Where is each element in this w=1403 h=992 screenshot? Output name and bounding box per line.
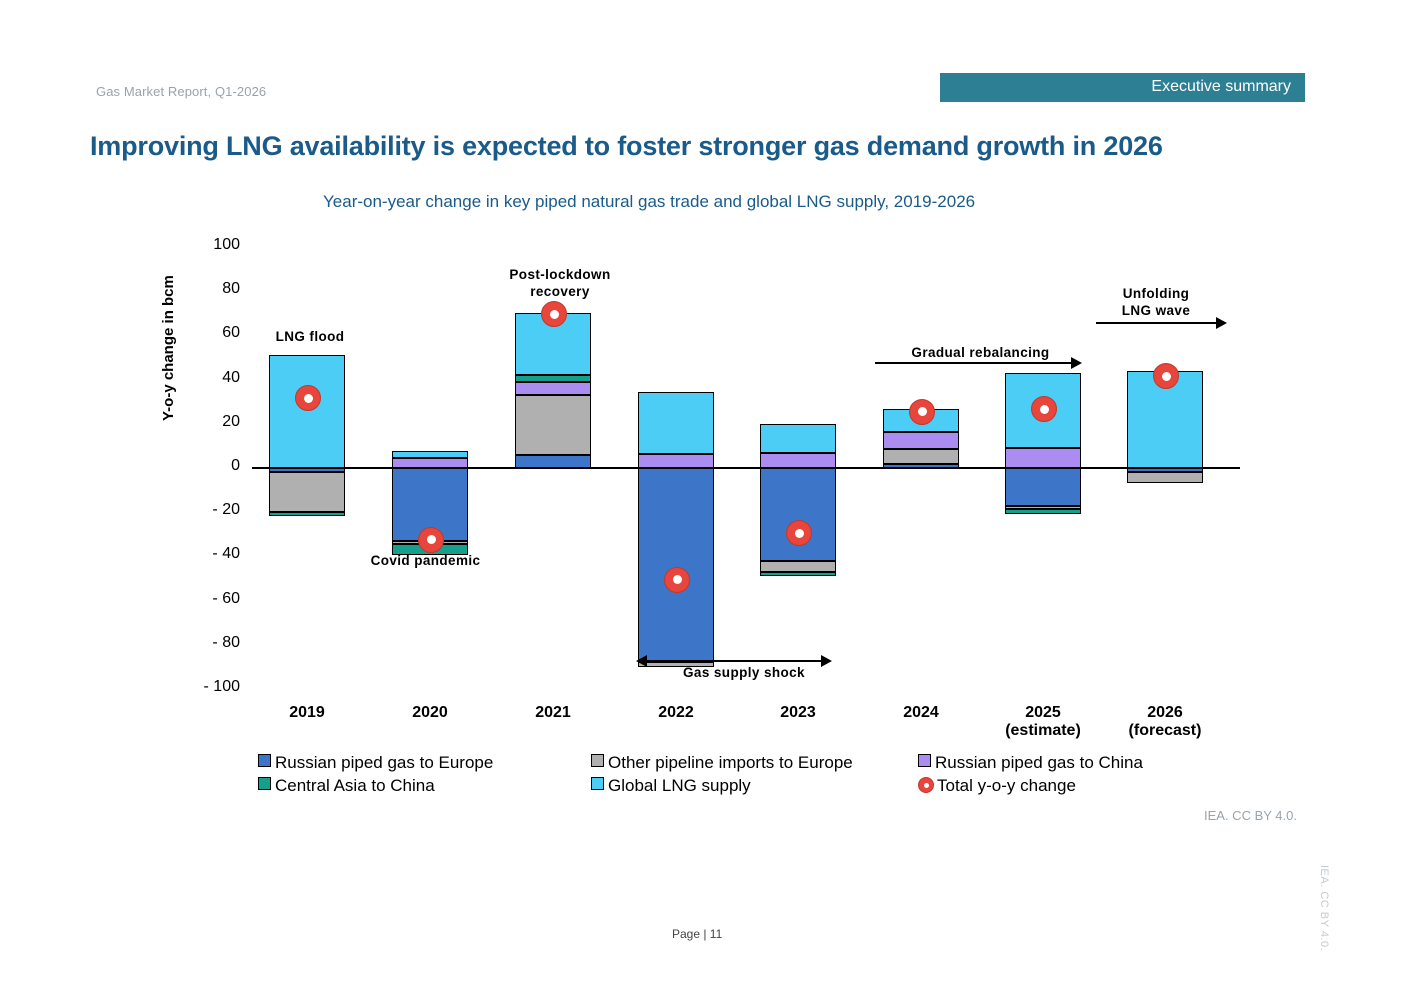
section-tab-label: Executive summary: [1151, 78, 1291, 96]
gas-supply-shock-arrow-right: [821, 655, 832, 667]
bar-segment: [269, 355, 345, 468]
x-label-year: 2022: [658, 704, 694, 721]
x-label-year: 2021: [535, 704, 571, 721]
legend-swatch-icon: [918, 754, 931, 767]
bar-segment: [515, 395, 591, 455]
legend-label: Total y-o-y change: [937, 776, 1076, 795]
page-title: Improving LNG availability is expected t…: [90, 131, 1163, 162]
report-label: Gas Market Report, Q1-2026: [96, 84, 266, 99]
legend-item-3[interactable]: Central Asia to China: [258, 776, 435, 796]
chart-subtitle: Year-on-year change in key piped natural…: [323, 192, 975, 212]
side-license-credit: IEA. CC BY 4.0.: [1318, 865, 1330, 951]
bar-segment: [1005, 468, 1081, 506]
total-change-marker: [1153, 363, 1179, 389]
marker-center-dot: [1162, 372, 1171, 381]
bar-segment: [392, 458, 468, 468]
annotation-post-lockdown-line2: recovery: [530, 284, 590, 299]
x-label-year: 2024: [903, 704, 939, 721]
bar-segment: [1005, 448, 1081, 468]
legend-item-1[interactable]: Other pipeline imports to Europe: [591, 753, 853, 773]
legend-label: Russian piped gas to China: [935, 753, 1143, 772]
legend-swatch-icon: [258, 777, 271, 790]
bar-segment: [1005, 509, 1081, 515]
page-number: Page | 11: [672, 927, 722, 941]
annotation-post-lockdown: Post-lockdown recovery: [490, 266, 630, 300]
total-change-marker: [909, 399, 935, 425]
annotation-lng-flood: LNG flood: [245, 328, 375, 345]
marker-center-dot: [550, 310, 559, 319]
bar-segment: [760, 572, 836, 576]
y-tick-9: - 80: [178, 634, 240, 652]
marker-center-dot: [918, 407, 927, 416]
annotation-gradual-rebalancing: Gradual rebalancing: [898, 344, 1063, 361]
legend-label: Russian piped gas to Europe: [275, 753, 493, 772]
total-change-marker: [786, 520, 812, 546]
gas-supply-shock-arrow-left: [636, 655, 647, 667]
bar-segment: [883, 449, 959, 463]
bar-segment: [760, 424, 836, 453]
annotation-unfolding-line1: Unfolding: [1123, 286, 1190, 301]
x-label-year: 2026: [1147, 704, 1183, 721]
x-label-sublabel: (forecast): [1085, 722, 1245, 740]
legend-swatch-icon: [258, 754, 271, 767]
marker-center-dot: [427, 535, 436, 544]
gradual-rebalancing-arrow-line: [875, 362, 1073, 364]
legend-item-0[interactable]: Russian piped gas to Europe: [258, 753, 493, 773]
x-label-year: 2025: [1025, 704, 1061, 721]
x-label-year: 2020: [412, 704, 448, 721]
marker-center-dot: [1040, 405, 1049, 414]
bar-segment: [515, 382, 591, 395]
legend-swatch-icon: [591, 754, 604, 767]
x-label-year: 2019: [289, 704, 325, 721]
bar-segment: [1127, 472, 1203, 483]
bar-segment: [515, 455, 591, 468]
bar-segment: [760, 561, 836, 572]
bar-segment: [760, 453, 836, 468]
license-credit: IEA. CC BY 4.0.: [1204, 808, 1297, 823]
marker-center-dot: [304, 394, 313, 403]
bar-segment: [638, 392, 714, 454]
gradual-rebalancing-arrow-head: [1071, 357, 1082, 369]
y-tick-10: - 100: [178, 678, 240, 696]
bar-segment: [883, 432, 959, 450]
bar-segment: [638, 468, 714, 662]
annotation-unfolding-line2: LNG wave: [1122, 303, 1190, 318]
annotation-covid-pandemic: Covid pandemic: [358, 552, 493, 569]
legend-item-2[interactable]: Russian piped gas to China: [918, 753, 1143, 773]
bar-segment: [269, 472, 345, 512]
y-tick-2: 60: [178, 324, 240, 342]
legend-swatch-icon: [591, 777, 604, 790]
gas-supply-shock-arrow-line: [645, 660, 823, 662]
y-tick-5: 0: [178, 457, 240, 475]
legend-label: Other pipeline imports to Europe: [608, 753, 853, 772]
legend-item-4[interactable]: Global LNG supply: [591, 776, 751, 796]
bar-segment: [269, 512, 345, 515]
marker-center-dot: [673, 575, 682, 584]
y-tick-6: - 20: [178, 501, 240, 519]
y-tick-7: - 40: [178, 545, 240, 563]
legend-label: Central Asia to China: [275, 776, 435, 795]
annotation-post-lockdown-line1: Post-lockdown: [509, 267, 610, 282]
y-tick-3: 40: [178, 369, 240, 387]
marker-center-dot: [795, 529, 804, 538]
y-tick-4: 20: [178, 413, 240, 431]
x-label-year: 2023: [780, 704, 816, 721]
legend-item-5[interactable]: Total y-o-y change: [918, 776, 1076, 796]
total-change-marker: [418, 527, 444, 553]
bar-segment: [760, 468, 836, 561]
annotation-gas-supply-shock: Gas supply shock: [668, 664, 820, 681]
y-tick-8: - 60: [178, 590, 240, 608]
bar-segment: [392, 451, 468, 458]
legend-marker-icon: [918, 777, 934, 793]
bar-segment: [515, 375, 591, 382]
y-tick-0: 100: [178, 236, 240, 254]
y-tick-1: 80: [178, 280, 240, 298]
x-label-2026: 2026(forecast): [1085, 704, 1245, 740]
total-change-marker: [664, 567, 690, 593]
section-tab: Executive summary: [940, 73, 1305, 102]
annotation-unfolding-lng-wave: Unfolding LNG wave: [1094, 285, 1218, 319]
bar-segment: [883, 464, 959, 468]
unfolding-arrow-head: [1216, 317, 1227, 329]
bar-segment: [638, 454, 714, 468]
unfolding-arrow-line: [1096, 322, 1218, 324]
legend-label: Global LNG supply: [608, 776, 751, 795]
